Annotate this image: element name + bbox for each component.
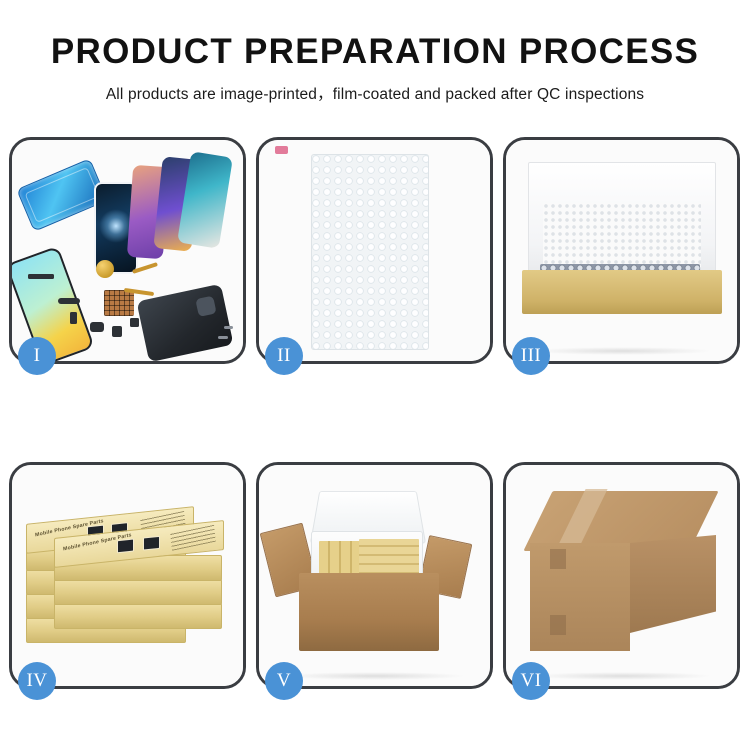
step-image-6 bbox=[506, 465, 737, 686]
connector-part-3 bbox=[70, 312, 77, 324]
connector-part-5 bbox=[112, 326, 122, 337]
carton-body bbox=[299, 573, 439, 651]
connector-part-2 bbox=[58, 298, 80, 304]
step-image-3 bbox=[506, 140, 737, 361]
step-image-1 bbox=[12, 140, 243, 361]
step-panel-5: V bbox=[256, 462, 493, 689]
step-panel-6: VI bbox=[503, 462, 740, 689]
page-title: PRODUCT PREPARATION PROCESS bbox=[0, 34, 750, 71]
step-badge-3: III bbox=[512, 337, 550, 375]
scene-bubble-wrapped-screen bbox=[259, 140, 490, 361]
page-subtitle: All products are image-printed，film-coat… bbox=[0, 82, 750, 104]
connector-part-6 bbox=[130, 318, 139, 327]
chip-module bbox=[104, 290, 134, 316]
product-preparation-infographic: PRODUCT PREPARATION PROCESS All products… bbox=[0, 0, 750, 750]
foam-lid bbox=[528, 162, 716, 280]
connector-part-1 bbox=[28, 274, 54, 279]
carton-side-face bbox=[630, 535, 716, 633]
carton-front-face bbox=[530, 543, 630, 651]
step-badge-1: I bbox=[18, 337, 56, 375]
stacked-box-7 bbox=[54, 579, 222, 605]
pink-label-tab bbox=[275, 146, 288, 154]
scene-open-gold-box bbox=[506, 140, 737, 361]
step-image-5 bbox=[259, 465, 490, 686]
carton-tab-top bbox=[550, 549, 566, 569]
steps-grid: I II bbox=[9, 137, 741, 689]
screw-1 bbox=[218, 336, 228, 339]
step-badge-5: V bbox=[265, 662, 303, 700]
scene-stacked-boxes: Mobile Phone Spare Parts Mobile Phone Sp… bbox=[12, 465, 243, 686]
step-panel-2: II bbox=[256, 137, 493, 364]
step-badge-2: II bbox=[265, 337, 303, 375]
box-stack: Mobile Phone Spare Parts Mobile Phone Sp… bbox=[26, 489, 226, 669]
drop-shadow bbox=[284, 672, 464, 680]
box-print-textlines-2 bbox=[170, 524, 216, 551]
step-image-2 bbox=[259, 140, 490, 361]
drop-shadow bbox=[531, 347, 711, 355]
box-print-screen-2a bbox=[117, 539, 134, 554]
carton-tab-bottom bbox=[550, 615, 566, 635]
screw-2 bbox=[224, 326, 233, 329]
step-badge-6: VI bbox=[512, 662, 550, 700]
step-image-4: Mobile Phone Spare Parts Mobile Phone Sp… bbox=[12, 465, 243, 686]
connector-part-4 bbox=[90, 322, 104, 332]
step-panel-3: III bbox=[503, 137, 740, 364]
scene-sealed-carton bbox=[506, 465, 737, 686]
gold-box-base bbox=[522, 270, 722, 314]
stacked-box-8 bbox=[54, 603, 222, 629]
speaker-module bbox=[96, 260, 114, 278]
scene-parts-layout bbox=[12, 140, 243, 361]
step-panel-4: Mobile Phone Spare Parts Mobile Phone Sp… bbox=[9, 462, 246, 689]
step-badge-4: IV bbox=[18, 662, 56, 700]
header: PRODUCT PREPARATION PROCESS All products… bbox=[0, 0, 750, 104]
drop-shadow bbox=[531, 672, 711, 680]
step-panel-1: I bbox=[9, 137, 246, 364]
bubble-wrap-bag bbox=[311, 154, 429, 350]
box-print-screen-2b bbox=[143, 536, 160, 551]
scene-carton-with-foam bbox=[259, 465, 490, 686]
